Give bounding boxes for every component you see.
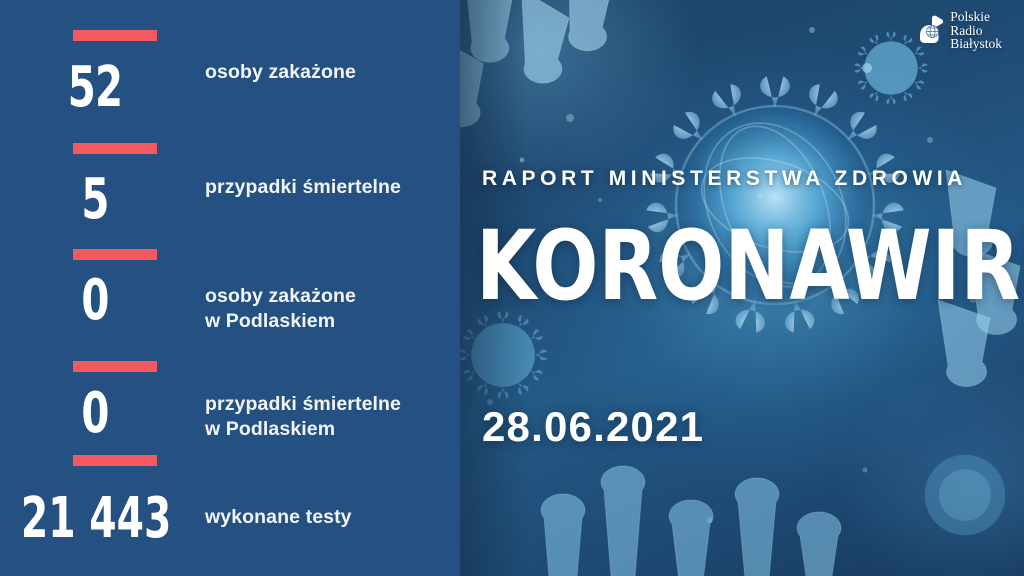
divider-bar xyxy=(73,361,157,372)
report-date: 28.06.2021 xyxy=(482,404,704,450)
page-title: KORONAWIRUS xyxy=(476,224,1024,308)
stat-value: 21 443 xyxy=(21,491,169,547)
hero-kicker-text: RAPORT MINISTERSTWA ZDROWIA xyxy=(482,168,967,190)
divider-bar xyxy=(73,455,157,466)
stat-label: wykonane testy xyxy=(205,505,455,530)
stat-label: przypadki śmiertelne xyxy=(205,175,455,200)
virus-particle-bottom-right-icon xyxy=(900,430,1024,560)
brand-logo[interactable]: Polskie Radio Białystok xyxy=(917,10,1002,51)
stat-label: przypadki śmiertelne w Podlaskiem xyxy=(205,392,455,442)
virus-spike-cluster-bottom-icon xyxy=(520,440,850,576)
stat-value: 0 xyxy=(19,386,171,442)
stat-value: 0 xyxy=(19,273,171,329)
virus-spike-cluster-top-left-icon xyxy=(460,0,650,170)
divider-bar xyxy=(73,143,157,154)
stat-label: osoby zakażone xyxy=(205,60,455,85)
microphone-globe-icon xyxy=(917,15,944,45)
divider-bar xyxy=(73,30,157,41)
stat-value: 52 xyxy=(19,60,171,116)
stat-value: 5 xyxy=(19,172,171,228)
coronavirus-report-infographic: RAPORT MINISTERSTWA ZDROWIA KORONAWIRUS … xyxy=(0,0,1024,576)
brand-name-text: Polskie Radio Białystok xyxy=(950,10,1002,51)
stat-label: osoby zakażone w Podlaskiem xyxy=(205,284,455,334)
stats-panel: 52osoby zakażone5przypadki śmiertelne0os… xyxy=(0,0,460,576)
hero-panel: RAPORT MINISTERSTWA ZDROWIA KORONAWIRUS … xyxy=(460,0,1024,576)
divider-bar xyxy=(73,249,157,260)
